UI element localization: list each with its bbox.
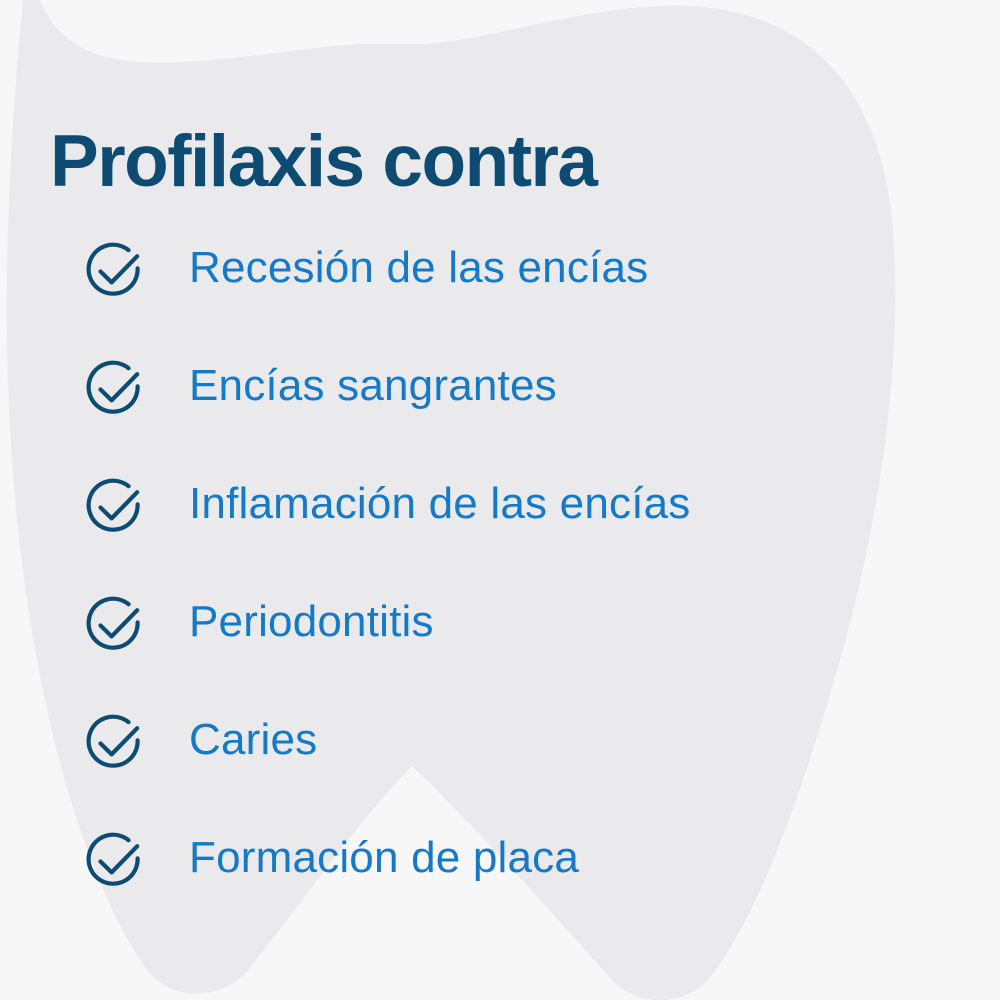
benefits-list: Recesión de las encías Encías sangrantes: [80, 234, 980, 942]
check-circle-icon: [80, 474, 148, 542]
list-item: Periodontitis: [80, 588, 980, 706]
list-item-label: Caries: [189, 706, 317, 774]
list-item-label: Encías sangrantes: [189, 352, 557, 420]
list-item-label: Formación de placa: [189, 824, 579, 892]
list-item: Recesión de las encías: [80, 234, 980, 352]
list-item: Caries: [80, 706, 980, 824]
check-circle-icon: [80, 710, 148, 778]
infographic-card: Profilaxis contra Recesión de las encías: [0, 0, 1000, 1000]
list-item-label: Inflamación de las encías: [189, 470, 691, 538]
list-item: Inflamación de las encías: [80, 470, 980, 588]
check-circle-icon: [80, 238, 148, 306]
list-item: Encías sangrantes: [80, 352, 980, 470]
check-circle-icon: [80, 356, 148, 424]
list-item: Formación de placa: [80, 824, 980, 942]
check-circle-icon: [80, 828, 148, 896]
list-item-label: Periodontitis: [189, 588, 434, 656]
list-item-label: Recesión de las encías: [189, 234, 648, 302]
check-circle-icon: [80, 592, 148, 660]
page-title: Profilaxis contra: [50, 125, 597, 198]
